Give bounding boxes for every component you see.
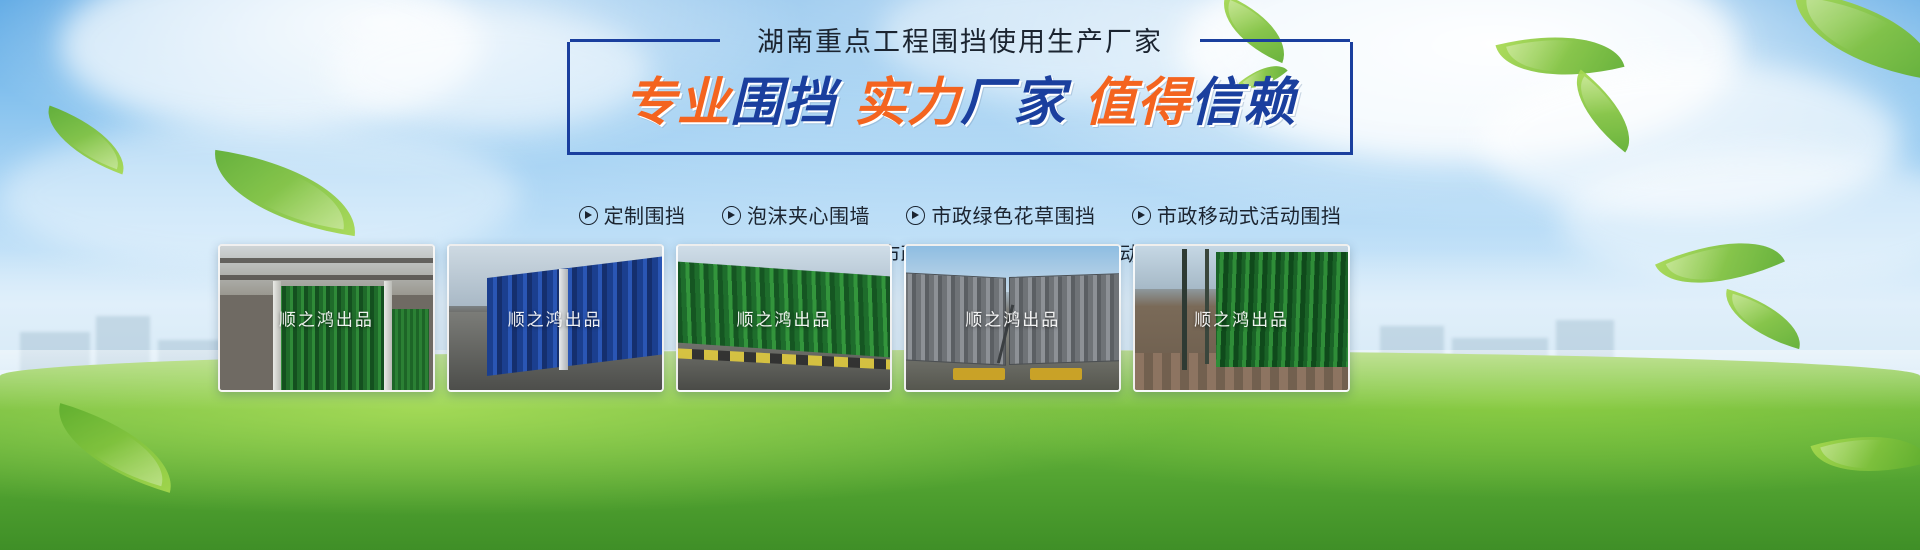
photo-detail — [275, 286, 386, 390]
feature-label: 泡沫夹心围墙 — [747, 206, 870, 228]
play-triangle-icon — [1132, 206, 1151, 225]
photo-watermark: 顺之鸿出品 — [1135, 306, 1348, 331]
headline-part-1: 专业 — [624, 74, 730, 132]
headline-part-6: 信赖 — [1190, 74, 1296, 132]
photo-detail — [1030, 368, 1082, 380]
product-photo[interactable]: 顺之鸿出品 — [904, 244, 1121, 392]
photo-detail — [220, 275, 433, 280]
banner-subtitle: 湖南重点工程围挡使用生产厂家 — [570, 23, 1350, 61]
headline-part-3: 实力 — [854, 74, 960, 132]
feature-item[interactable]: 泡沫夹心围墙 — [722, 200, 870, 234]
hero-banner: 湖南重点工程围挡使用生产厂家 专业围挡实力厂家值得信赖 定制围挡 泡沫夹心围墙 … — [0, 0, 1920, 550]
banner-headline: 专业围挡实力厂家值得信赖 — [550, 72, 1370, 134]
feature-label: 市政绿色花草围挡 — [931, 206, 1095, 228]
product-photo-strip: 顺之鸿出品 顺之鸿出品 顺之鸿出品 顺之鸿出品 — [218, 244, 1350, 392]
photo-watermark: 顺之鸿出品 — [906, 306, 1119, 331]
photo-watermark: 顺之鸿出品 — [678, 306, 891, 331]
feature-label: 定制围挡 — [604, 206, 686, 228]
feature-item[interactable]: 定制围挡 — [579, 200, 686, 234]
photo-watermark: 顺之鸿出品 — [220, 306, 433, 331]
photo-watermark: 顺之鸿出品 — [449, 306, 662, 331]
feature-item[interactable]: 市政移动式活动围挡 — [1132, 200, 1342, 234]
headline-block: 湖南重点工程围挡使用生产厂家 专业围挡实力厂家值得信赖 — [0, 42, 1920, 155]
photo-detail — [220, 258, 433, 263]
product-photo[interactable]: 顺之鸿出品 — [1133, 244, 1350, 392]
feature-item[interactable]: 市政绿色花草围挡 — [906, 200, 1095, 234]
decorative-bracket: 湖南重点工程围挡使用生产厂家 专业围挡实力厂家值得信赖 — [567, 42, 1353, 155]
feature-label: 市政移动式活动围挡 — [1157, 206, 1342, 228]
play-triangle-icon — [579, 206, 598, 225]
product-photo[interactable]: 顺之鸿出品 — [676, 244, 893, 392]
photo-detail — [384, 281, 392, 390]
photo-detail — [273, 281, 281, 390]
product-photo[interactable]: 顺之鸿出品 — [218, 244, 435, 392]
play-triangle-icon — [722, 206, 741, 225]
play-triangle-icon — [906, 206, 925, 225]
photo-detail — [953, 368, 1005, 380]
headline-part-2: 围挡 — [730, 74, 836, 132]
product-photo[interactable]: 顺之鸿出品 — [447, 244, 664, 392]
headline-part-4: 厂家 — [960, 74, 1066, 132]
headline-part-5: 值得 — [1084, 74, 1190, 132]
feature-row-1: 定制围挡 泡沫夹心围墙 市政绿色花草围挡 市政移动式活动围挡 — [0, 200, 1920, 236]
